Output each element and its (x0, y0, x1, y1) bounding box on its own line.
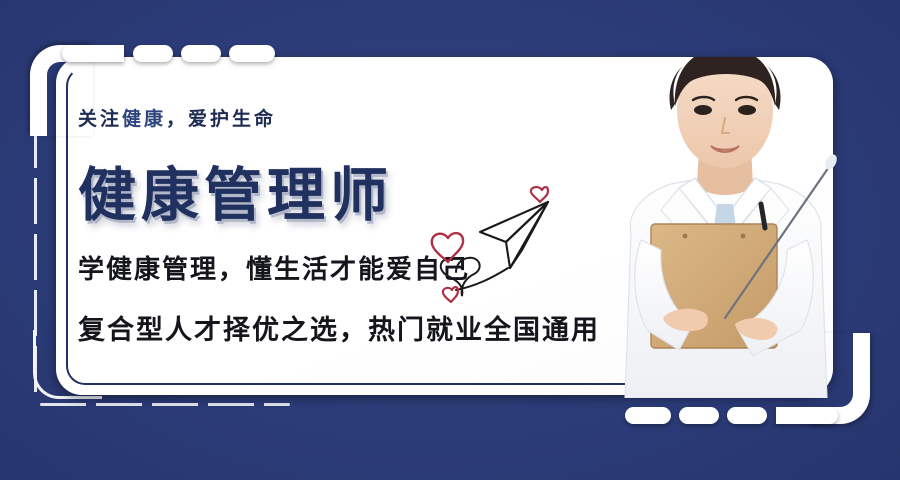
dash-pill-top-3 (229, 45, 275, 62)
dash-pill-top-1 (133, 45, 173, 62)
kicker-highlight: 健康 (122, 109, 166, 130)
page-title: 健康管理师 (78, 148, 393, 232)
kicker-pre: 关注 (78, 109, 122, 130)
kicker-post: ，爱护生命 (166, 109, 276, 130)
subline-1: 学健康管理，懂生活才能爱自己 (78, 249, 470, 286)
kicker-text: 关注健康，爱护生命 (78, 104, 276, 131)
dash-pill-top-2 (181, 45, 221, 62)
bracket-bottom-right-bar (776, 407, 838, 424)
dash-pill-bottom-1 (727, 407, 767, 424)
guide-line-horizontal (40, 403, 290, 406)
dash-pill-bottom-2 (679, 407, 719, 424)
dash-pill-bottom-3 (625, 407, 671, 424)
subline-2: 复合型人才择优之选，热门就业全国通用 (78, 308, 600, 347)
promo-banner: 关注健康，爱护生命 健康管理师 学健康管理，懂生活才能爱自己 复合型人才择优之选… (0, 0, 900, 480)
bracket-top-left-bar (62, 45, 124, 62)
female-doctor-photo (575, 18, 875, 398)
